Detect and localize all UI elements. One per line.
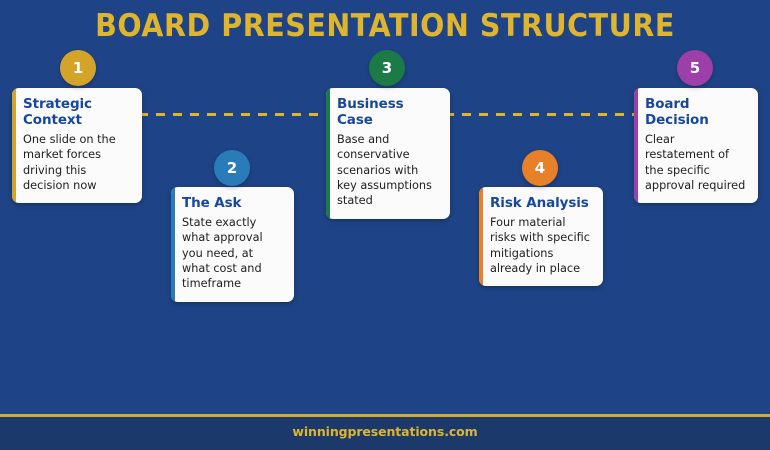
card-accent-bar — [12, 88, 16, 203]
card-accent-bar — [479, 187, 483, 286]
step-card-body: Base and conservative scenarios with key… — [337, 132, 439, 209]
step-card[interactable]: The AskState exactly what approval you n… — [171, 187, 294, 302]
card-accent-bar — [634, 88, 638, 203]
step-card-body: Clear restatement of the specific approv… — [645, 132, 747, 193]
card-accent-bar — [171, 187, 175, 302]
step-card-title: Business Case — [337, 97, 439, 129]
step-card[interactable]: Business CaseBase and conservative scena… — [326, 88, 450, 219]
step-number-badge: 2 — [214, 150, 250, 186]
step-card-title: Risk Analysis — [490, 196, 592, 212]
step-card-body: State exactly what approval you need, at… — [182, 215, 283, 292]
footer-website: winningpresentations.com — [0, 424, 770, 439]
step-number-badge: 1 — [60, 50, 96, 86]
page-title: Board Presentation Structure — [31, 8, 739, 44]
step-card[interactable]: Strategic ContextOne slide on the market… — [12, 88, 142, 203]
step-card[interactable]: Risk AnalysisFour material risks with sp… — [479, 187, 603, 286]
step-card-title: The Ask — [182, 196, 283, 212]
step-card-title: Strategic Context — [23, 97, 131, 129]
slide-canvas: Board Presentation Structure Strategic C… — [0, 0, 770, 450]
step-number-badge: 5 — [677, 50, 713, 86]
step-number-badge: 4 — [522, 150, 558, 186]
card-accent-bar — [326, 88, 330, 219]
step-card-body: Four material risks with specific mitiga… — [490, 215, 592, 276]
step-number-badge: 3 — [369, 50, 405, 86]
step-card-title: Board Decision — [645, 97, 747, 129]
step-card[interactable]: Board DecisionClear restatement of the s… — [634, 88, 758, 203]
step-card-body: One slide on the market forces driving t… — [23, 132, 131, 193]
